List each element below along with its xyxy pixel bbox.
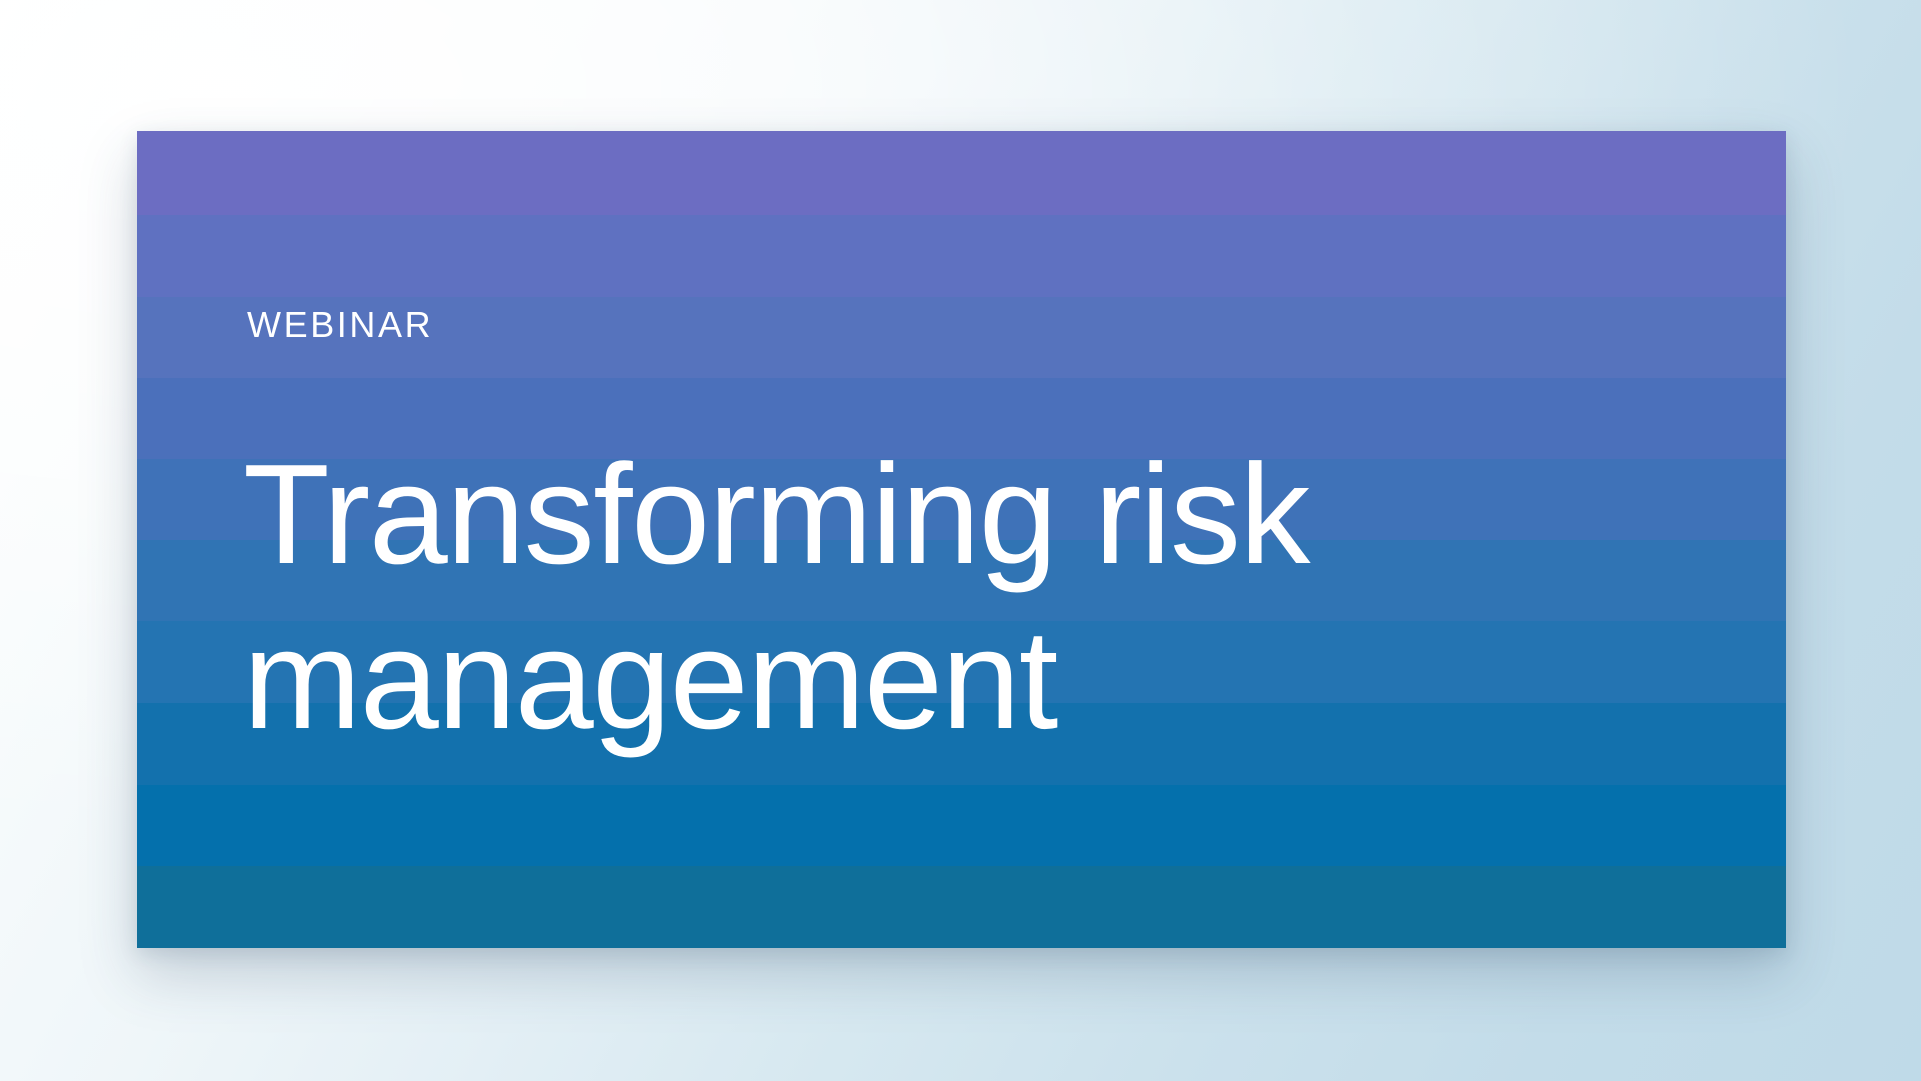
gradient-band-9 <box>137 785 1786 868</box>
gradient-band-4 <box>137 378 1786 461</box>
gradient-band-8 <box>137 703 1786 786</box>
gradient-band-10 <box>137 866 1786 948</box>
gradient-band-3 <box>137 297 1786 379</box>
gradient-band-2 <box>137 215 1786 298</box>
webinar-banner-card: WEBINAR Transforming risk management <box>137 131 1786 948</box>
gradient-band-7 <box>137 621 1786 704</box>
gradient-band-5 <box>137 459 1786 540</box>
gradient-band-6 <box>137 540 1786 623</box>
page-root: WEBINAR Transforming risk management <box>0 0 1921 1081</box>
banner-gradient-background <box>137 131 1786 948</box>
gradient-band-1 <box>137 131 1786 216</box>
